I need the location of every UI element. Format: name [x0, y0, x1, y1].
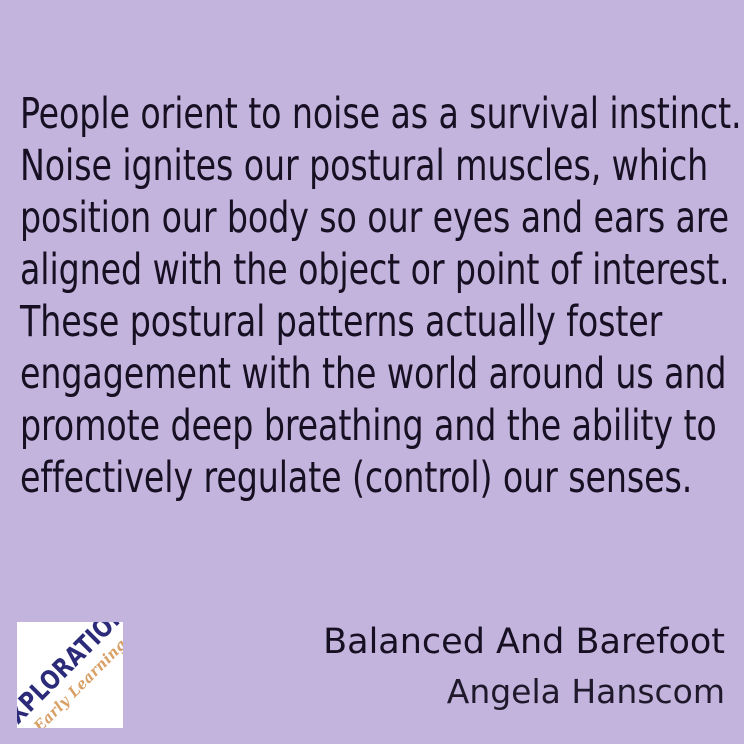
logo-title: EXPLORATIONS [17, 622, 123, 728]
quote-line: People orient to noise as a survival ins… [20, 88, 632, 140]
author-name: Angela Hanscom [323, 670, 725, 714]
quote-line: engagement with the world around us and [20, 348, 632, 400]
quote-line: Noise ignites our postural muscles, whic… [20, 140, 632, 192]
quote-line: effectively regulate (control) our sense… [20, 452, 632, 504]
quote-text-block: People orient to noise as a survival ins… [20, 88, 732, 504]
quote-line: aligned with the object or point of inte… [20, 244, 632, 296]
quote-line: position our body so our eyes and ears a… [20, 192, 632, 244]
source-title: Balanced And Barefoot [323, 620, 725, 664]
logo-lockup: EXPLORATIONS Early Learning [17, 622, 123, 728]
attribution-block: Balanced And Barefoot Angela Hanscom [323, 620, 725, 714]
explorations-logo: EXPLORATIONS Early Learning [17, 622, 123, 728]
quote-line: promote deep breathing and the ability t… [20, 400, 632, 452]
quote-line: These postural patterns actually foster [20, 296, 632, 348]
quote-card: People orient to noise as a survival ins… [0, 0, 744, 744]
